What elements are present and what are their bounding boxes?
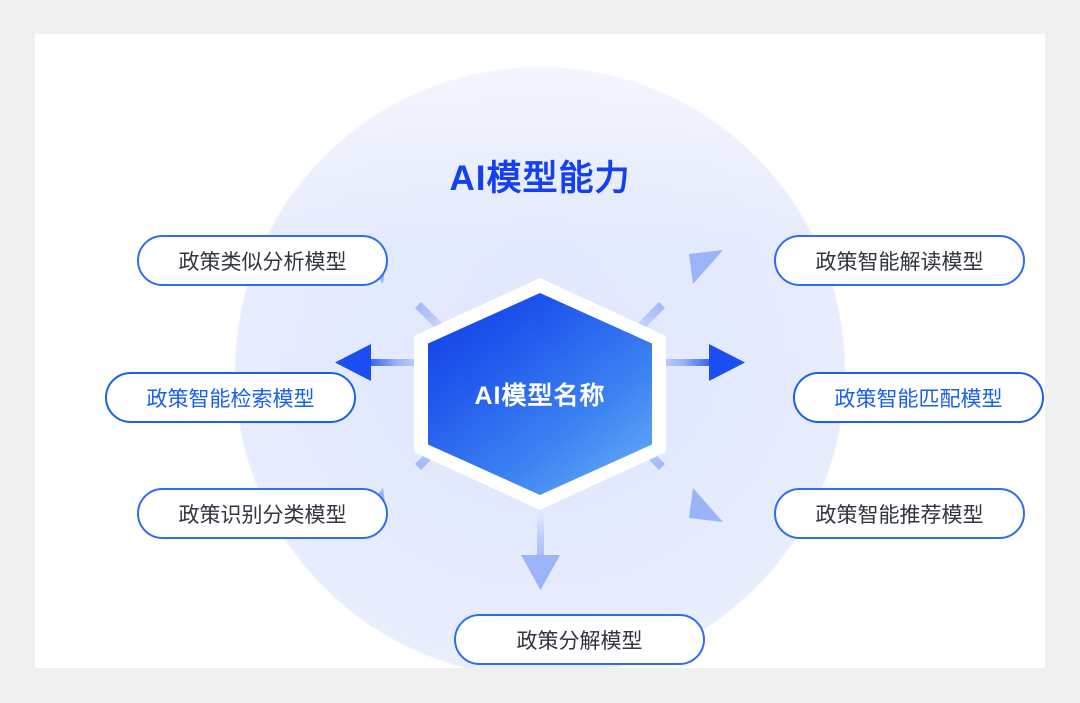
node-middle-right[interactable]: 政策智能匹配模型: [793, 372, 1044, 423]
node-label: 政策智能推荐模型: [816, 499, 984, 529]
hexagon-label: AI模型名称: [474, 376, 605, 412]
node-label: 政策智能解读模型: [816, 246, 984, 276]
node-top-right[interactable]: 政策智能解读模型: [774, 235, 1025, 286]
node-label: 政策智能匹配模型: [835, 383, 1003, 413]
hexagon-fill: AI模型名称: [428, 293, 652, 495]
node-bottom-center[interactable]: 政策分解模型: [454, 614, 705, 665]
arrow-down: [521, 510, 560, 590]
node-bottom-left[interactable]: 政策识别分类模型: [137, 488, 388, 539]
node-bottom-right[interactable]: 政策智能推荐模型: [774, 488, 1025, 539]
node-label: 政策智能检索模型: [147, 383, 315, 413]
page-title: AI模型能力: [35, 150, 1045, 201]
diagram-card: AI模型能力: [35, 34, 1045, 668]
node-middle-left[interactable]: 政策智能检索模型: [105, 372, 356, 423]
center-hexagon[interactable]: AI模型名称: [414, 278, 666, 510]
node-label: 政策类似分析模型: [179, 246, 347, 276]
node-label: 政策识别分类模型: [179, 499, 347, 529]
hexagon-outline: AI模型名称: [414, 278, 666, 510]
node-top-left[interactable]: 政策类似分析模型: [137, 235, 388, 286]
node-label: 政策分解模型: [517, 625, 643, 655]
